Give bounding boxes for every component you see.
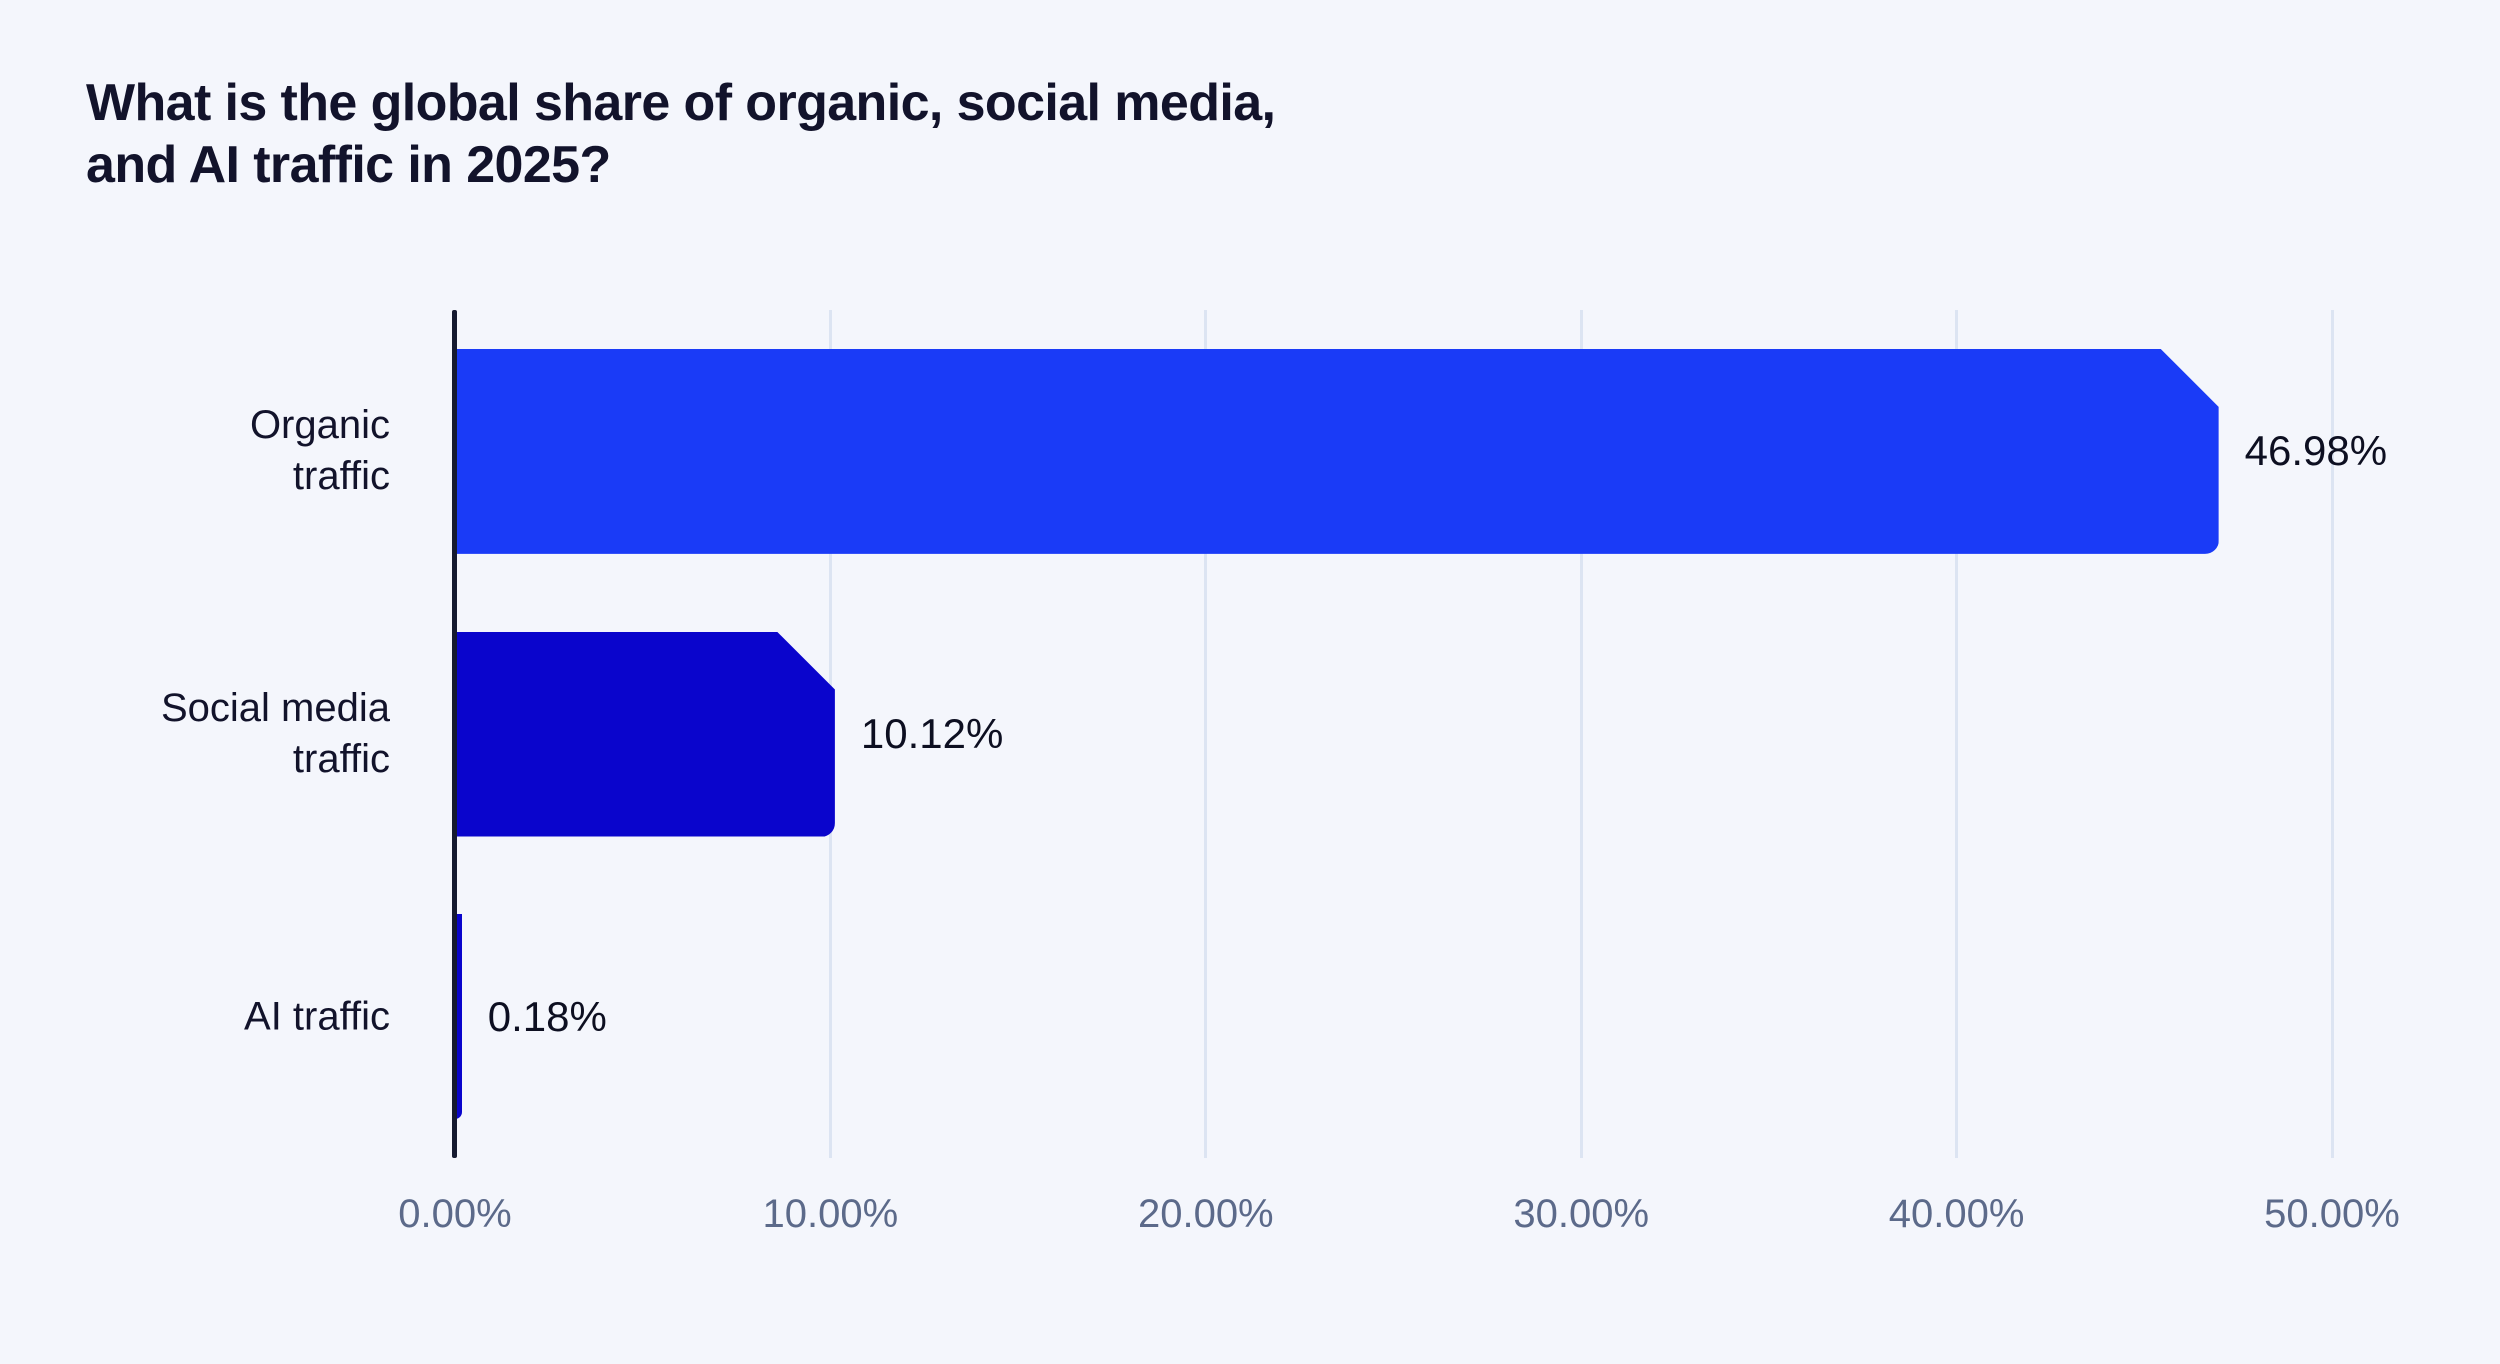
bar[interactable] bbox=[455, 632, 835, 837]
y-axis-label: Organic traffic bbox=[0, 401, 390, 503]
x-axis-tick-label: 50.00% bbox=[2264, 1192, 2400, 1237]
y-axis-label: Social media traffic bbox=[0, 683, 390, 785]
bar-value-label: 10.12% bbox=[861, 710, 1003, 758]
bar-fill bbox=[455, 349, 2219, 554]
x-axis-tick-label: 40.00% bbox=[1889, 1192, 2025, 1237]
x-axis-tick-label: 20.00% bbox=[1138, 1192, 1274, 1237]
bar-value-label: 0.18% bbox=[488, 993, 607, 1041]
x-axis-tick-label: 10.00% bbox=[763, 1192, 899, 1237]
bar-chart: Organic trafficSocial media trafficAI tr… bbox=[0, 0, 2500, 1364]
bar[interactable] bbox=[455, 349, 2219, 554]
bar-fill bbox=[455, 632, 835, 837]
plot-area bbox=[455, 310, 2332, 1158]
x-axis-tick-label: 30.00% bbox=[1513, 1192, 1649, 1237]
x-axis-ticks: 0.00%10.00%20.00%30.00%40.00%50.00% bbox=[455, 1192, 2332, 1262]
y-axis-line bbox=[452, 310, 457, 1158]
x-axis-tick-label: 0.00% bbox=[398, 1192, 511, 1237]
bar-value-label: 46.98% bbox=[2245, 427, 2387, 475]
y-axis-labels: Organic trafficSocial media trafficAI tr… bbox=[0, 310, 420, 1158]
y-axis-label: AI traffic bbox=[0, 991, 390, 1042]
